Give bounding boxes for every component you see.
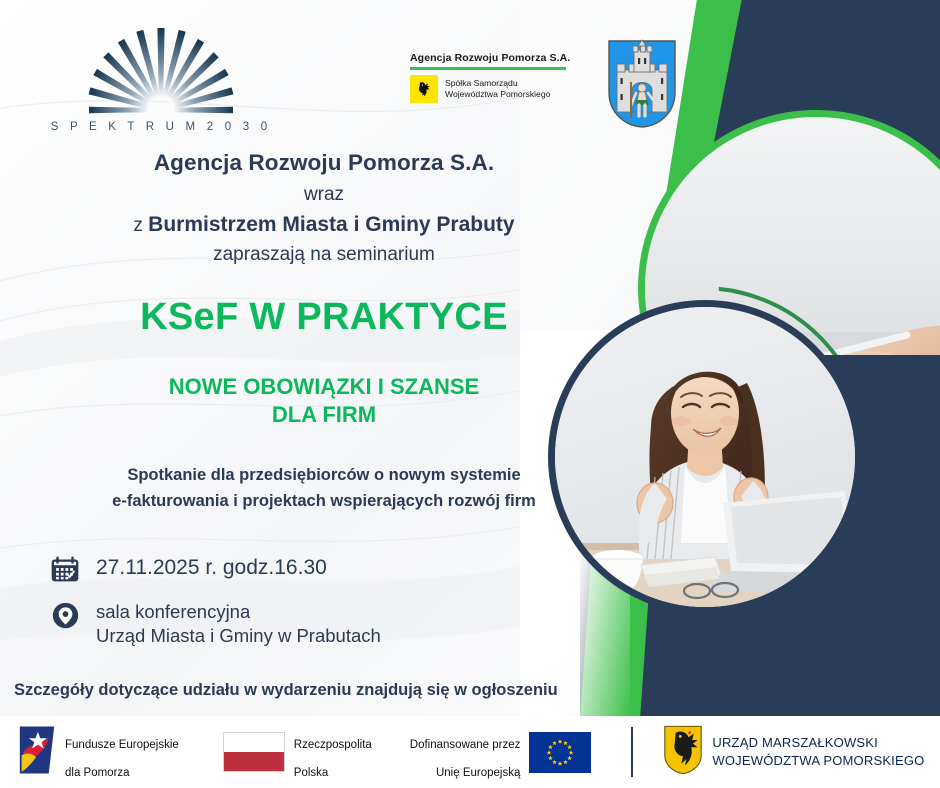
co-organizer-strong: Burmistrzem Miasta i Gminy Prabuty: [148, 213, 514, 236]
conjunction-wraz: wraz: [0, 184, 648, 206]
spektrum-wordmark: S P E K T R U M 2 0 3 0: [51, 121, 272, 133]
arp-subtitle-line2: Województwa Pomorskiego: [445, 89, 550, 100]
rzeczpospolita-polska-logo: Rzeczpospolita Polska: [223, 723, 372, 781]
pomorskie-gryf-icon: [663, 724, 703, 781]
gryf-badge-icon: [410, 75, 438, 103]
spektrum-2030-logo: S P E K T R U M 2 0 3 0: [46, 24, 276, 136]
lead-paragraph: Spotkanie dla przedsiębiorców o nowym sy…: [0, 463, 648, 514]
fe-star-emblem: [18, 724, 56, 781]
pl-label-line1: Rzeczpospolita: [294, 739, 372, 751]
lead-line1: Spotkanie dla przedsiębiorców o nowym sy…: [0, 463, 648, 489]
event-location-row: sala konferencyjna Urząd Miasta i Gminy …: [48, 598, 608, 649]
arp-subtitle-line1: Spółka Samorządu: [445, 78, 550, 89]
polish-flag-icon: [223, 732, 285, 772]
poster-root: S P E K T R U M 2 0 3 0 Agencja Rozwoju …: [0, 0, 940, 788]
pl-label: Rzeczpospolita Polska: [294, 723, 372, 781]
calendar-icon: [48, 552, 82, 586]
event-date-row: 27.11.2025 r. godz.16.30: [48, 552, 608, 586]
arp-title: Agencja Rozwoju Pomorza S.A.: [410, 52, 580, 64]
arp-subtitle: Spółka Samorządu Województwa Pomorskiego: [445, 78, 550, 100]
eu-label-line2: Unię Europejską: [436, 767, 520, 779]
location-line2: Urząd Miasta i Gminy w Prabutach: [96, 624, 381, 648]
agencja-rozwoju-pomorza-logo: Agencja Rozwoju Pomorza S.A. Spółka Samo…: [410, 52, 580, 112]
main-copy: Agencja Rozwoju Pomorza S.A. wraz z Burm…: [0, 150, 648, 514]
footer-divider: [631, 727, 633, 777]
page-subtitle: NOWE OBOWIĄZKI I SZANSE DLA FIRM: [0, 373, 648, 429]
lead-line2: e-fakturowania i projektach wspierającyc…: [0, 489, 648, 515]
subtitle-line2: DLA FIRM: [0, 401, 648, 429]
location-line1: sala konferencyjna: [96, 600, 381, 624]
footer-logo-bar: Fundusze Europejskie dla Pomorza Rzeczpo…: [0, 716, 940, 788]
event-date-text: 27.11.2025 r. godz.16.30: [96, 552, 327, 582]
map-pin-icon: [48, 598, 82, 632]
fe-label: Fundusze Europejskie dla Pomorza: [65, 723, 179, 781]
um-label-line1: URZĄD MARSZAŁKOWSKI: [712, 735, 878, 750]
dofinansowane-przez-ue-logo: Dofinansowane przez Unię Europejską: [410, 723, 592, 781]
co-organizer-prefix: z: [133, 215, 148, 236]
prabuty-coat-of-arms: [606, 38, 678, 130]
subtitle-line1: NOWE OBOWIĄZKI I SZANSE: [0, 373, 648, 401]
eu-flag-icon: [529, 732, 591, 773]
co-organizer-line: z Burmistrzem Miasta i Gminy Prabuty: [0, 213, 648, 237]
eu-label: Dofinansowane przez Unię Europejską: [410, 723, 521, 781]
page-title: KSeF W PRAKTYCE: [0, 296, 648, 339]
fundusze-europejskie-logo: Fundusze Europejskie dla Pomorza: [18, 723, 179, 781]
um-label-line2: WOJEWÓDZTWA POMORSKIEGO: [712, 753, 924, 768]
organizer-name: Agencja Rozwoju Pomorza S.A.: [0, 150, 648, 176]
urzad-marszalkowski-logo: URZĄD MARSZAŁKOWSKI WOJEWÓDZTWA POMORSKI…: [663, 724, 924, 781]
details-note: Szczegóły dotyczące udziału w wydarzeniu…: [14, 681, 558, 700]
pl-label-line2: Polska: [294, 767, 329, 779]
fe-label-line2: dla Pomorza: [65, 767, 130, 779]
fe-label-line1: Fundusze Europejskie: [65, 739, 179, 751]
event-details: 27.11.2025 r. godz.16.30 sala konferency…: [48, 552, 608, 649]
invitation-line: zapraszają na seminarium: [0, 244, 648, 266]
arp-green-rule: [410, 67, 566, 70]
eu-label-line1: Dofinansowane przez: [410, 739, 521, 751]
um-label: URZĄD MARSZAŁKOWSKI WOJEWÓDZTWA POMORSKI…: [712, 734, 924, 769]
event-location-text: sala konferencyjna Urząd Miasta i Gminy …: [96, 598, 381, 649]
